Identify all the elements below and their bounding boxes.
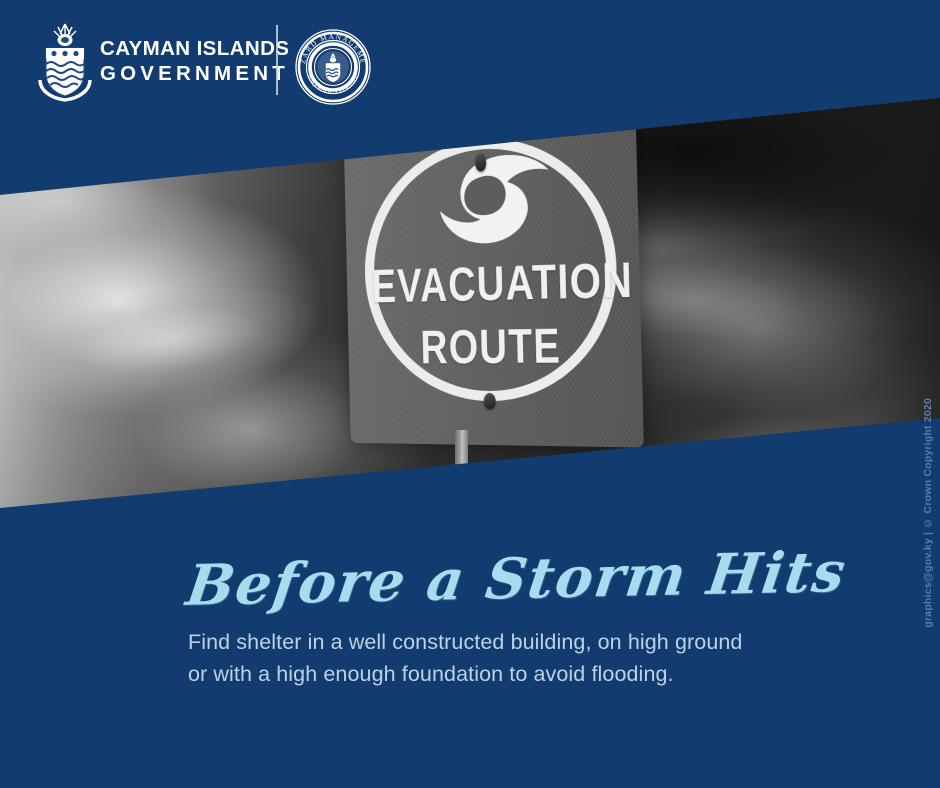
copyright-credit: graphics@gov.ky | © Crown Copyright 2020 bbox=[922, 398, 934, 628]
cayman-islands-crest-icon bbox=[34, 22, 96, 100]
body-copy-text: Find shelter in a well constructed build… bbox=[188, 626, 743, 690]
hurricane-icon bbox=[412, 139, 561, 256]
government-wordmark-line2: GOVERNMENT bbox=[100, 64, 289, 85]
header-bar: CAYMAN ISLANDS GOVERNMENT bbox=[0, 0, 940, 120]
sign-text-line1: EVACUATION bbox=[371, 253, 612, 314]
poster-canvas: EVACUATION ROUTE bbox=[0, 0, 940, 788]
headline-text: Before a Storm Hits bbox=[182, 539, 850, 619]
sign-bolt-bottom bbox=[484, 393, 496, 409]
sign-bolt-top bbox=[475, 153, 486, 172]
sign-text-line2: ROUTE bbox=[373, 318, 614, 375]
header-divider bbox=[276, 25, 278, 95]
sign-post bbox=[455, 430, 468, 520]
evacuation-route-sign: EVACUATION ROUTE bbox=[344, 115, 644, 447]
hazard-management-seal-icon: HAZARD MANAGEMENT Cayman Islands bbox=[294, 28, 372, 106]
government-wordmark: CAYMAN ISLANDS GOVERNMENT bbox=[100, 39, 289, 84]
government-wordmark-line1: CAYMAN ISLANDS bbox=[100, 39, 289, 60]
